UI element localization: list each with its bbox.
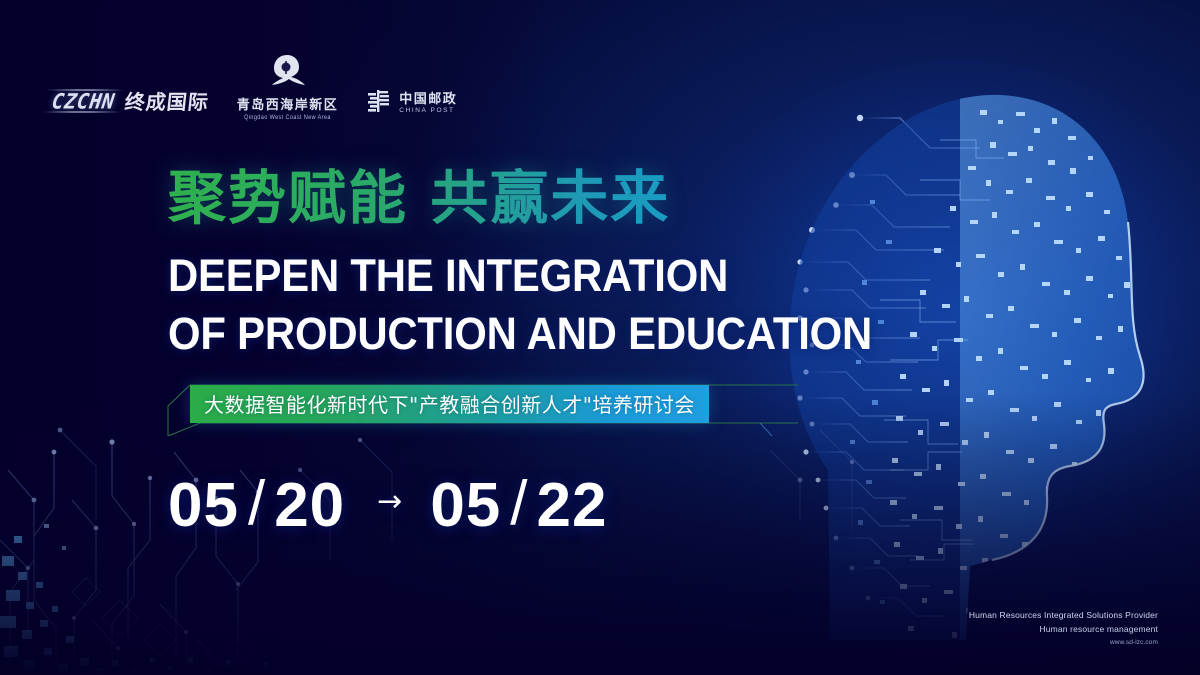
china-post-english-name: CHINA POST bbox=[399, 107, 454, 114]
seagull-icon bbox=[265, 52, 309, 92]
china-post-text: 中国邮政 CHINA POST bbox=[399, 92, 457, 113]
poster-canvas: CZCHN 终成国际 青岛西海岸新区 Qingdao West Coast Ne… bbox=[0, 0, 1200, 675]
footer-block: Human Resources Integrated Solutions Pro… bbox=[969, 608, 1158, 649]
qingdao-english-name: Qingdao West Coast New Area bbox=[244, 115, 331, 122]
subtitle-ribbon-wrap: 大数据智能化新时代下"产教融合创新人才"培养研讨会 bbox=[168, 385, 808, 429]
china-post-chinese-name: 中国邮政 bbox=[399, 92, 457, 106]
footer-website[interactable]: www.sd-lzc.com bbox=[969, 637, 1158, 649]
headline-block: 聚势赋能 共赢未来 DEEPEN THE INTEGRATION OF PROD… bbox=[168, 168, 828, 537]
english-headline: DEEPEN THE INTEGRATION OF PRODUCTION AND… bbox=[168, 247, 782, 362]
english-headline-line2: OF PRODUCTION AND EDUCATION bbox=[168, 305, 782, 363]
end-date-separator: / bbox=[510, 473, 527, 535]
start-date-separator: / bbox=[248, 473, 265, 535]
logo-china-post: 中国邮政 CHINA POST bbox=[366, 89, 457, 121]
subtitle-ribbon: 大数据智能化新时代下"产教融合创新人才"培养研讨会 bbox=[190, 385, 709, 423]
event-dates: 05 / 20 → 05 / 22 bbox=[168, 475, 828, 537]
footer-tagline: Human Resources Integrated Solutions Pro… bbox=[969, 608, 1158, 623]
subtitle-text: 大数据智能化新时代下"产教融合创新人才"培养研讨会 bbox=[204, 389, 695, 418]
end-month: 05 bbox=[430, 475, 501, 537]
czchn-wordmark: CZCHN bbox=[50, 88, 116, 113]
start-month: 05 bbox=[168, 475, 239, 537]
date-range-arrow-icon: → bbox=[377, 487, 402, 517]
footer-subtagline: Human resource management bbox=[969, 622, 1158, 637]
chinese-headline: 聚势赋能 共赢未来 bbox=[168, 168, 828, 229]
china-post-emblem-icon bbox=[366, 89, 392, 117]
sponsor-logo-bar: CZCHN 终成国际 青岛西海岸新区 Qingdao West Coast Ne… bbox=[52, 52, 457, 121]
czchn-chinese-name: 终成国际 bbox=[123, 86, 210, 115]
english-headline-line1: DEEPEN THE INTEGRATION bbox=[168, 247, 782, 305]
qingdao-chinese-name: 青岛西海岸新区 bbox=[237, 94, 339, 113]
end-day: 22 bbox=[537, 475, 608, 537]
logo-czchn: CZCHN 终成国际 bbox=[52, 86, 209, 121]
logo-qingdao-west-coast: 青岛西海岸新区 Qingdao West Coast New Area bbox=[237, 52, 339, 121]
start-day: 20 bbox=[274, 475, 345, 537]
